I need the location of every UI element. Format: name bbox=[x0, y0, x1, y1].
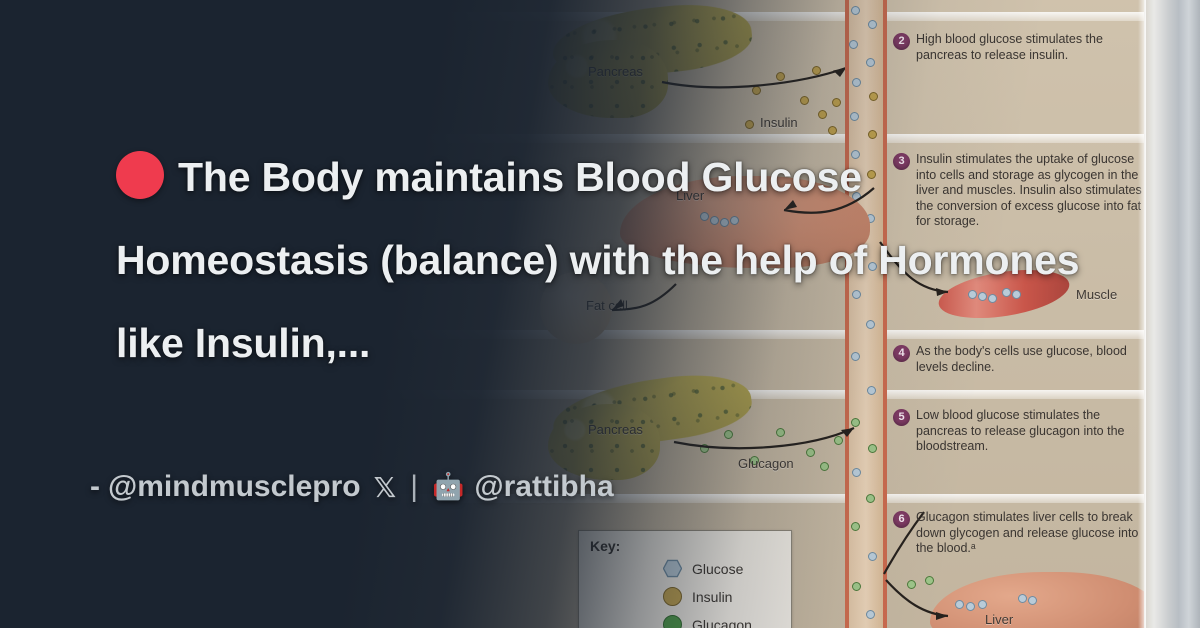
attribution-dash: - bbox=[90, 470, 100, 504]
robot-icon: 🤖 bbox=[432, 472, 464, 502]
attribution-line: - @mindmusclepro 𝕏 | 🤖 @rattibha bbox=[90, 470, 614, 504]
headline-text: The Body maintains Blood Glucose Homeost… bbox=[116, 154, 1079, 366]
card-content: The Body maintains Blood Glucose Homeost… bbox=[0, 0, 1200, 628]
separator-pipe: | bbox=[410, 470, 418, 504]
social-share-card: Pancreas Insulin bbox=[0, 0, 1200, 628]
source-handle[interactable]: @rattibha bbox=[474, 470, 613, 504]
author-handle[interactable]: @mindmusclepro bbox=[108, 470, 361, 504]
headline: The Body maintains Blood Glucose Homeost… bbox=[116, 136, 1126, 385]
x-logo-icon[interactable]: 𝕏 bbox=[374, 471, 397, 504]
red-circle-icon bbox=[116, 151, 164, 199]
